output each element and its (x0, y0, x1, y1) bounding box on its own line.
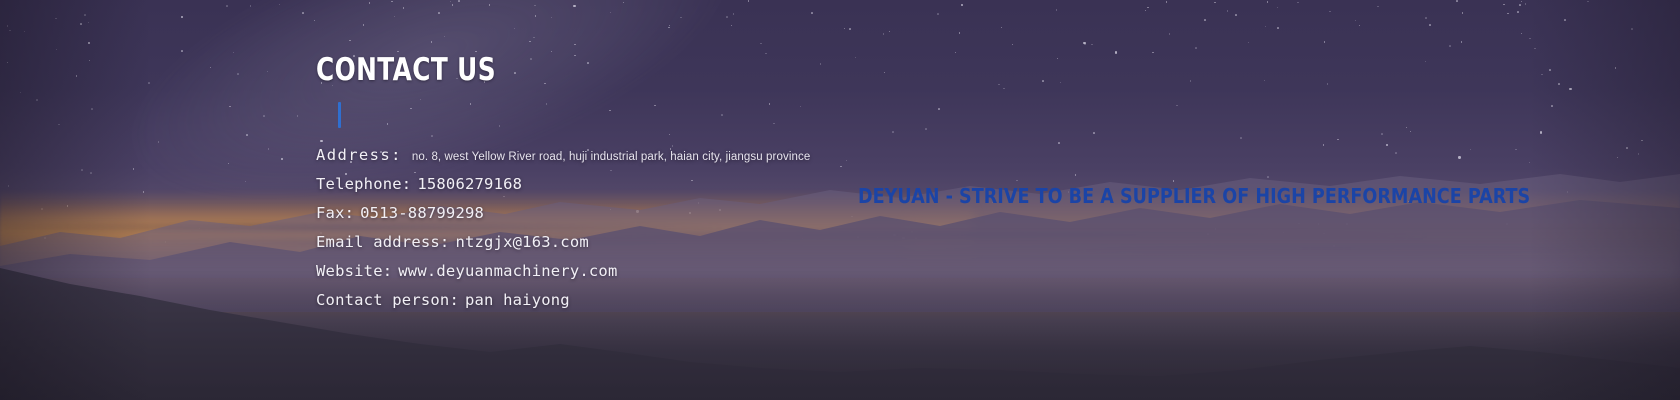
contact-line-label: Telephone: (316, 175, 411, 193)
contact-line-value: www.deyuanmachinery.com (398, 262, 617, 280)
contact-line-label: Website: (316, 262, 392, 280)
company-slogan: DEYUAN - STRIVE TO BE A SUPPLIER OF HIGH… (858, 183, 1530, 209)
contact-line-label: Contact person: (316, 291, 459, 309)
contact-details-list: Address:no. 8, west Yellow River road, h… (316, 146, 956, 320)
contact-line-value: 0513-88799298 (360, 204, 484, 222)
page-title: CONTACT US (316, 52, 828, 88)
contact-line-label: Address: (316, 146, 402, 164)
contact-line-value: no. 8, west Yellow River road, huji indu… (412, 151, 810, 163)
contact-line-value: 15806279168 (417, 175, 522, 193)
contact-line-value: pan haiyong (465, 291, 570, 309)
contact-line: Address:no. 8, west Yellow River road, h… (316, 146, 956, 175)
banner-content: CONTACT US Address:no. 8, west Yellow Ri… (0, 0, 1680, 400)
contact-line-label: Fax: (316, 204, 354, 222)
contact-line: Website:www.deyuanmachinery.com (316, 262, 956, 291)
contact-line: Contact person:pan haiyong (316, 291, 956, 320)
contact-line-label: Email address: (316, 233, 449, 251)
contact-line-value: ntzgjx@163.com (455, 233, 588, 251)
contact-line: Email address:ntzgjx@163.com (316, 233, 956, 262)
contact-banner: CONTACT US Address:no. 8, west Yellow Ri… (0, 0, 1680, 400)
title-accent-bar (338, 102, 341, 128)
